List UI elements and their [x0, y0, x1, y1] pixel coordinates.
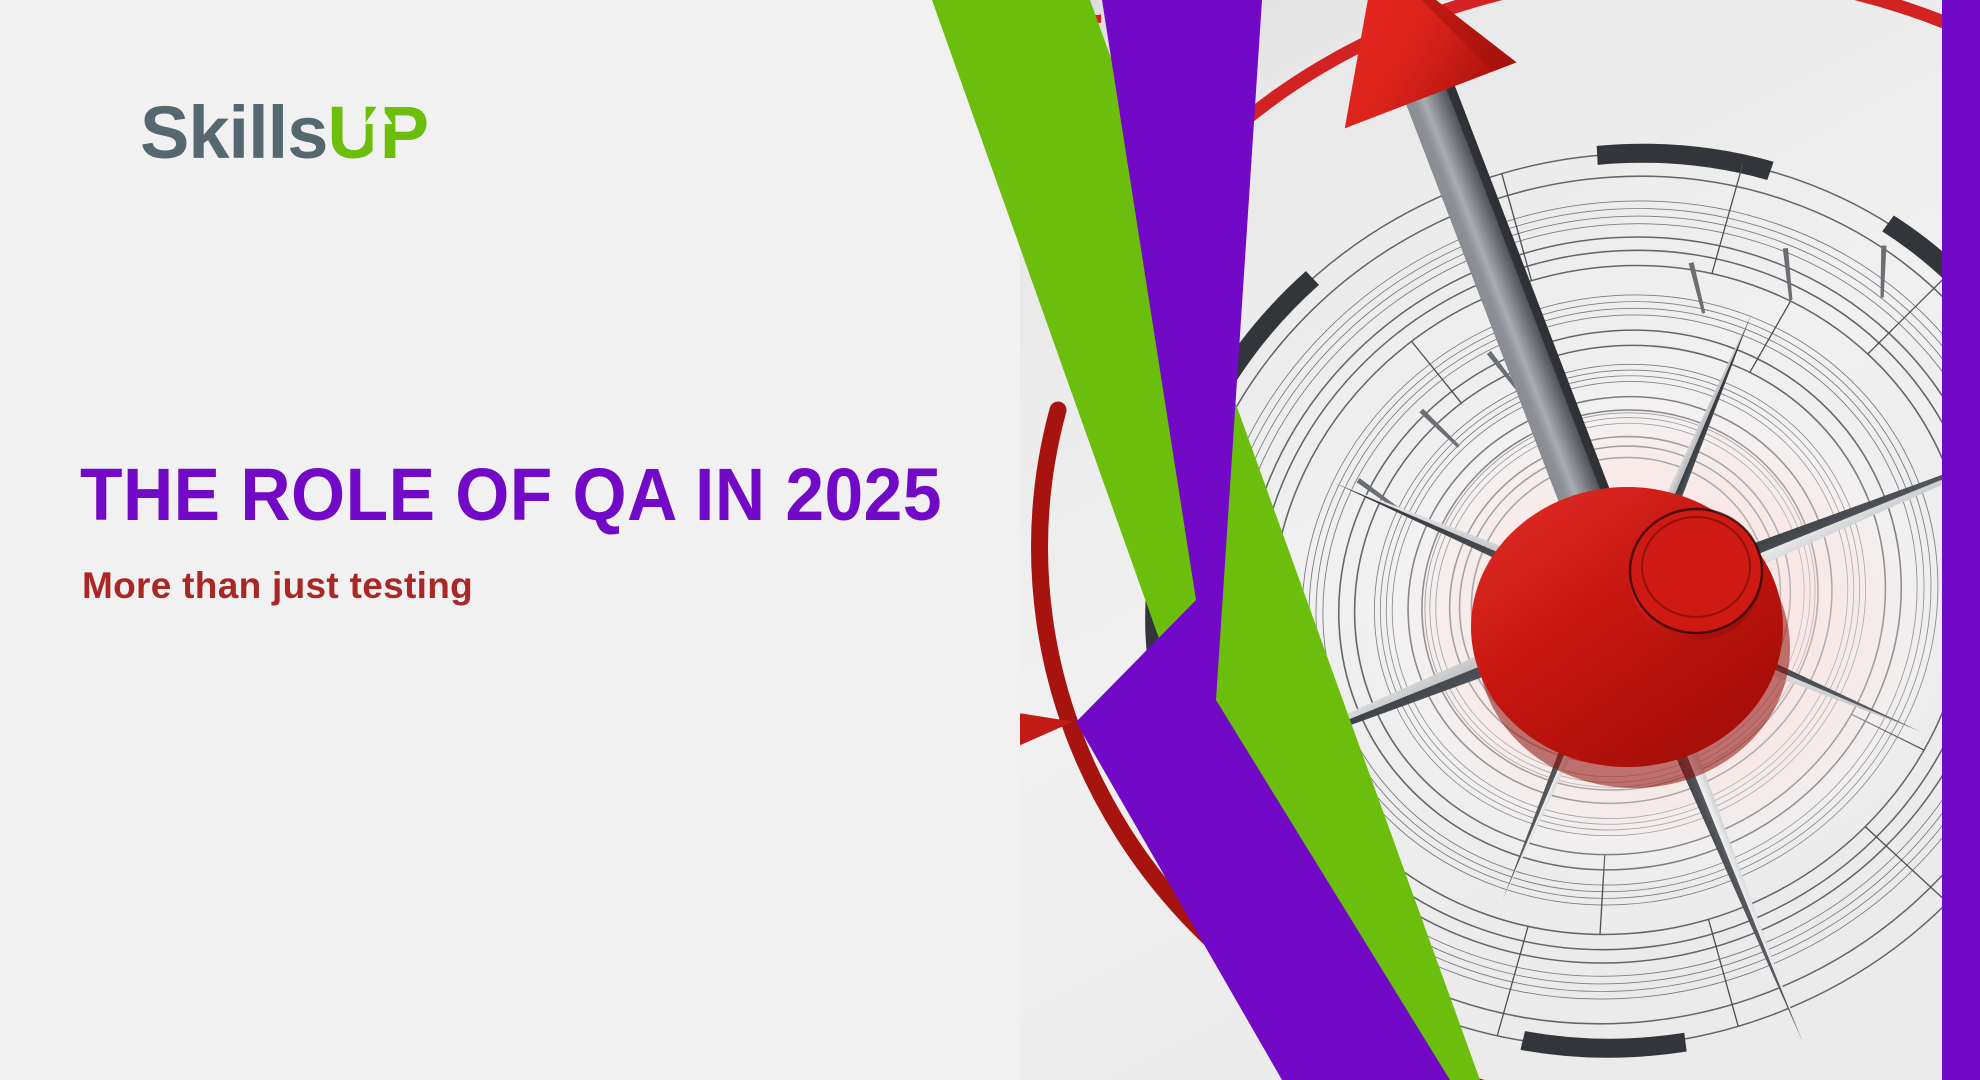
page-subtitle: More than just testing	[82, 565, 473, 607]
page-title: THE ROLE OF QA IN 2025	[80, 452, 942, 537]
logo-word-up: UP	[327, 96, 428, 170]
brand-logo[interactable]: Skills UP	[140, 96, 428, 170]
quality-compass-photo: QUALITY	[1020, 0, 1980, 1080]
up-arrow-icon	[363, 102, 393, 154]
text-panel: Skills UP THE ROLE OF QA IN 2025 More th…	[0, 0, 1160, 1080]
banner-canvas: QUALITY	[0, 0, 1980, 1080]
logo-word-skills: Skills	[140, 96, 327, 170]
